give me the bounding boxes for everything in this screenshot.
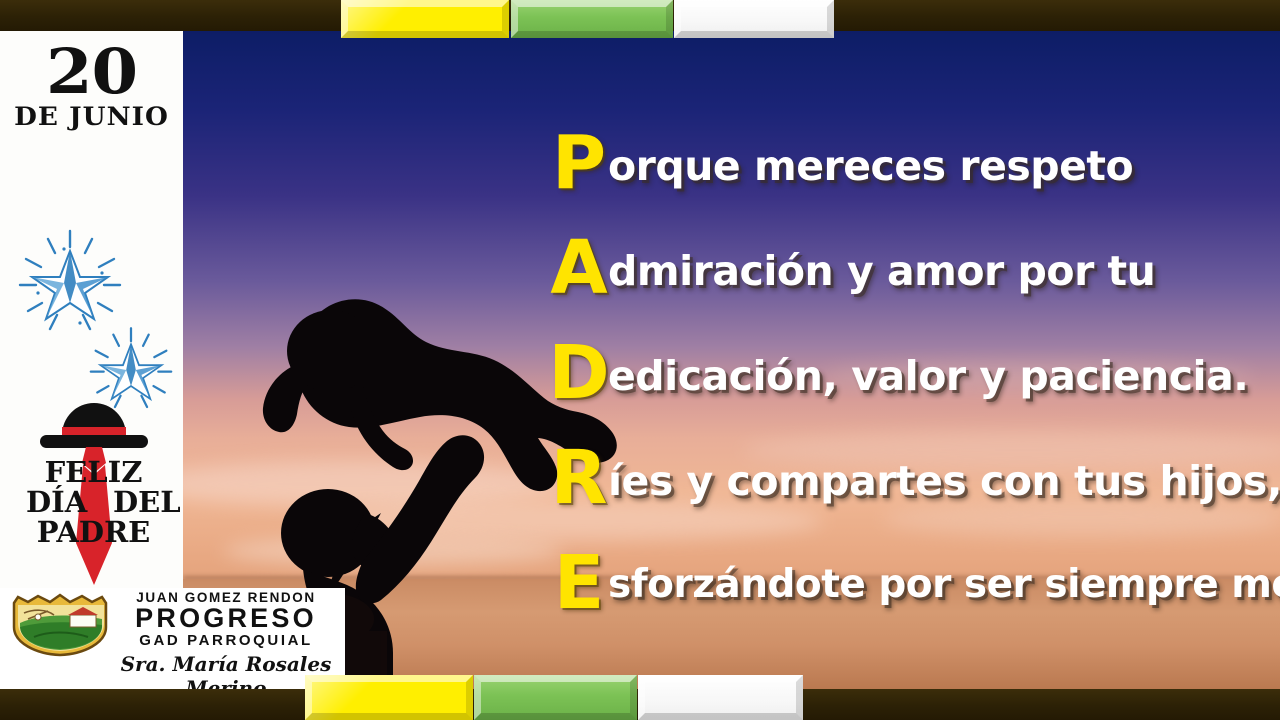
acrostic-line: R íes y compartes con tus hijos, [548, 441, 1268, 546]
gad-parroquial-logo-bar: JUAN GOMEZ RENDON PROGRESO GAD PARROQUIA… [0, 588, 345, 689]
emblem-line-padre: PADRE [26, 515, 161, 549]
emblem-word-dia: DÍA [26, 485, 74, 519]
acrostic-initial: P [548, 126, 610, 200]
coat-of-arms-shield-icon [8, 593, 112, 657]
emblem-word-del: DEL [113, 485, 161, 519]
acrostic-phrase: orque mereces respeto [608, 142, 1133, 190]
poster-canvas: P orque mereces respeto A dmiración y am… [0, 0, 1280, 720]
acrostic-line: D edicación, valor y paciencia. [548, 336, 1268, 441]
decor-block-green [474, 675, 637, 720]
gad-line-parroquial: GAD PARROQUIAL [110, 632, 342, 649]
acrostic-initial: R [548, 441, 610, 515]
acrostic-initial: D [548, 336, 610, 410]
acrostic-phrase: dmiración y amor por tu [608, 247, 1155, 295]
decor-block-yellow [341, 0, 509, 38]
decor-block-white [638, 675, 803, 720]
hat-band [62, 427, 126, 435]
gad-line-progreso: PROGRESO [110, 605, 342, 632]
date-block: 20 DE JUNIO [0, 43, 183, 131]
acrostic-phrase: íes y compartes con tus hijos, [608, 457, 1280, 505]
acrostic-line: P orque mereces respeto [548, 126, 1268, 231]
background-photo: P orque mereces respeto A dmiración y am… [183, 31, 1280, 689]
acrostic-initial: E [548, 546, 610, 620]
acrostic-phrase: edicación, valor y paciencia. [608, 352, 1248, 400]
acrostic-phrase: sforzándote por ser siempre mejor [608, 562, 1280, 607]
date-day: 20 [0, 43, 190, 100]
acrostic-line: A dmiración y amor por tu [548, 231, 1268, 336]
decor-block-yellow [305, 675, 473, 720]
acrostic-line: E sforzándote por ser siempre mejor [548, 546, 1268, 651]
top-decor-blocks [0, 0, 1280, 38]
emblem-line-feliz: FELIZ [26, 455, 161, 489]
acrostic-text-block: P orque mereces respeto A dmiración y am… [548, 126, 1268, 651]
decor-block-green [511, 0, 673, 38]
sparkle-star-icon [14, 227, 126, 339]
sparkle-star-icon [86, 325, 176, 415]
bottom-decor-blocks [0, 675, 1280, 720]
feliz-dia-del-padre-emblem: FELIZ DÍA DEL PADRE [26, 403, 161, 593]
date-month: DE JUNIO [0, 102, 188, 131]
decor-block-white [674, 0, 834, 38]
acrostic-initial: A [548, 231, 610, 305]
